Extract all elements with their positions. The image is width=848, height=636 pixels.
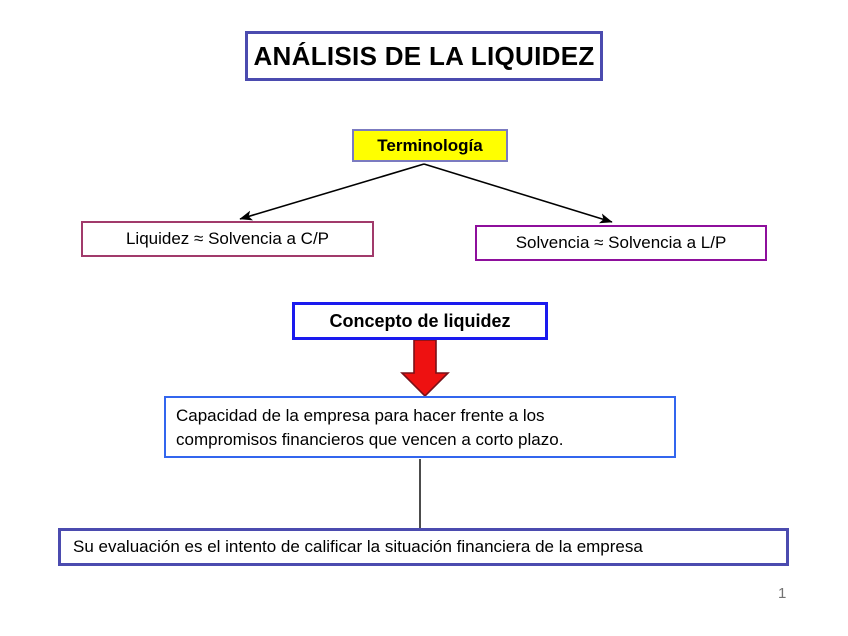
- page-number: 1: [778, 585, 786, 602]
- node-capacidad-line2: compromisos financieros que vencen a cor…: [176, 428, 674, 452]
- slide-canvas: ANÁLISIS DE LA LIQUIDEZ Terminología Liq…: [0, 0, 848, 636]
- node-terminologia: Terminología: [352, 129, 508, 162]
- node-capacidad: Capacidad de la empresa para hacer frent…: [164, 396, 676, 458]
- node-evaluacion: Su evaluación es el intento de calificar…: [58, 528, 789, 566]
- node-concepto-label: Concepto de liquidez: [329, 311, 510, 332]
- node-liquidez: Liquidez ≈ Solvencia a C/P: [81, 221, 374, 257]
- red-down-arrow-icon: [395, 340, 455, 398]
- node-terminologia-label: Terminología: [377, 136, 482, 156]
- node-solvencia: Solvencia ≈ Solvencia a L/P: [475, 225, 767, 261]
- node-liquidez-label: Liquidez ≈ Solvencia a C/P: [126, 229, 329, 249]
- slide-title-box: ANÁLISIS DE LA LIQUIDEZ: [245, 31, 603, 81]
- node-concepto-de-liquidez: Concepto de liquidez: [292, 302, 548, 340]
- node-capacidad-line1: Capacidad de la empresa para hacer frent…: [176, 404, 674, 428]
- node-solvencia-label: Solvencia ≈ Solvencia a L/P: [516, 233, 727, 253]
- node-evaluacion-label: Su evaluación es el intento de calificar…: [73, 537, 643, 557]
- branch-arrow-right-icon: [424, 164, 612, 222]
- page-title: ANÁLISIS DE LA LIQUIDEZ: [253, 41, 594, 72]
- branch-arrow-left-icon: [240, 164, 424, 219]
